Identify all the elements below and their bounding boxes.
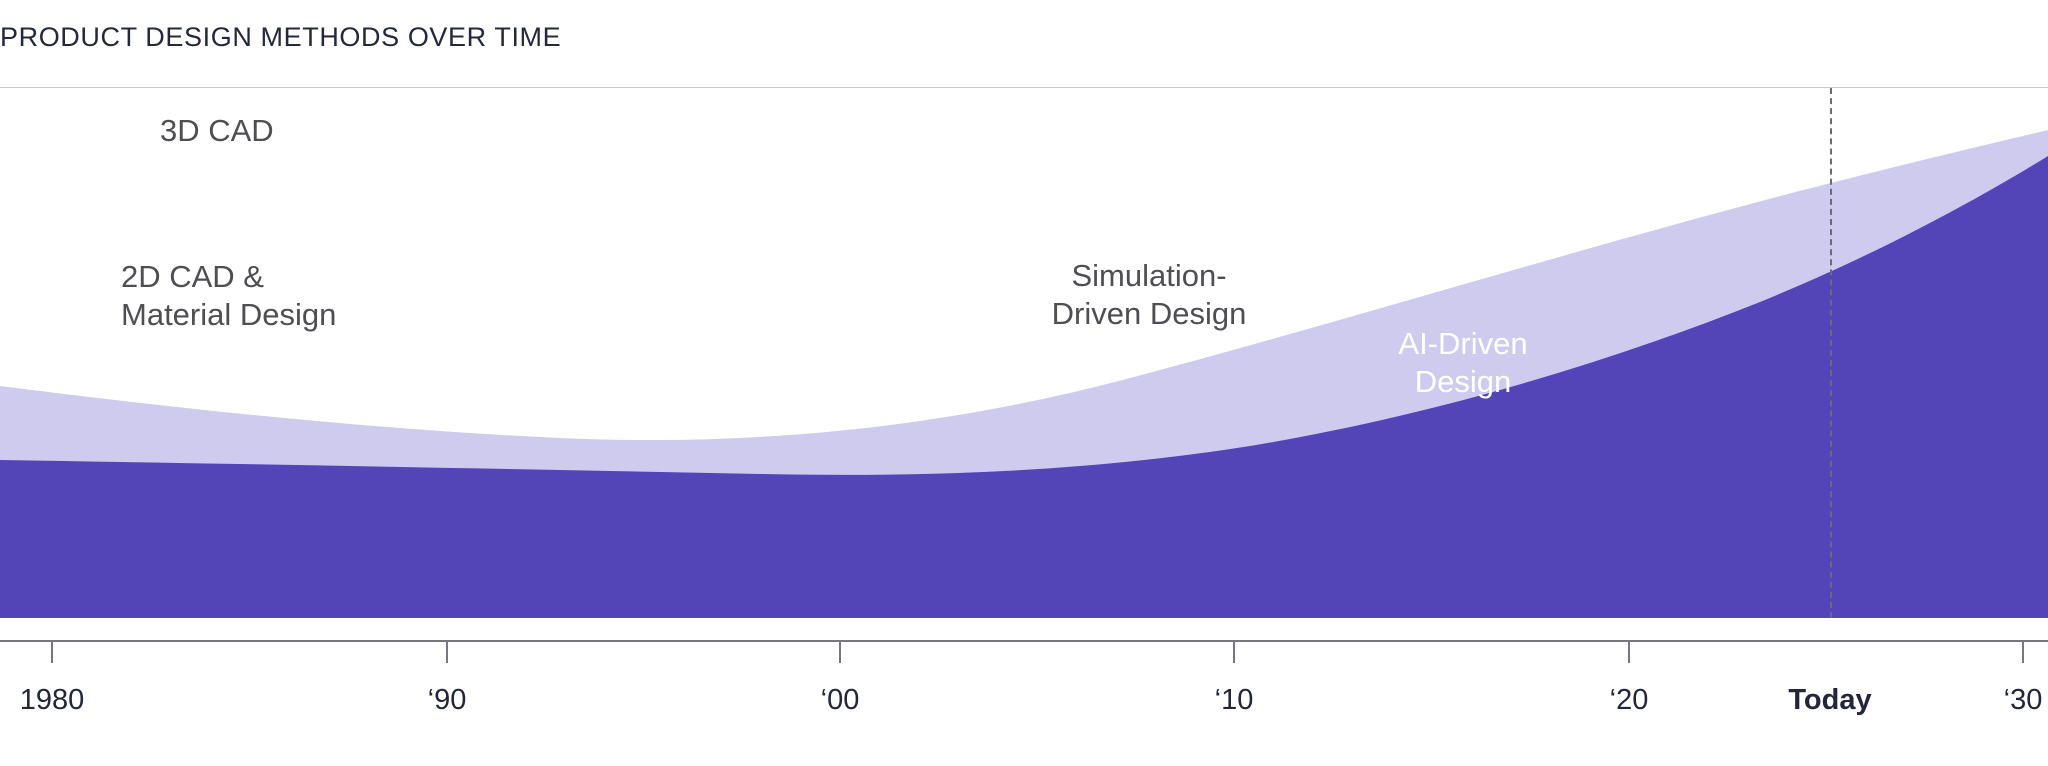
x-axis-label-20: ‘20 (1610, 683, 1649, 717)
x-axis-tick-00 (839, 642, 841, 663)
x-axis-tick-1980 (51, 642, 53, 663)
x-axis-label-today: Today (1788, 683, 1871, 717)
area-chart-plot (0, 88, 2048, 640)
x-axis-tick-20 (1628, 642, 1630, 663)
area-label-ai-driven-design: AI-Driven Design (1388, 325, 1538, 401)
chart-root: PRODUCT DESIGN METHODS OVER TIME 3D CAD … (0, 0, 2048, 766)
x-axis-line (0, 640, 2048, 642)
today-marker-line (1830, 88, 1832, 618)
x-axis-tick-30 (2022, 642, 2024, 663)
x-axis-label-90: ‘90 (428, 683, 467, 717)
x-axis-label-30: ‘30 (2004, 683, 2043, 717)
x-axis-label-10: ‘10 (1215, 683, 1254, 717)
area-label-3d-cad: 3D CAD (160, 112, 274, 150)
x-axis-tick-90 (446, 642, 448, 663)
x-axis-tick-10 (1233, 642, 1235, 663)
area-label-simulation-driven-design: Simulation- Driven Design (1038, 257, 1260, 333)
area-label-2d-cad-material-design: 2D CAD & Material Design (121, 258, 336, 334)
x-axis-label-00: ‘00 (821, 683, 860, 717)
x-axis-label-1980: 1980 (20, 683, 85, 717)
area-chart-svg (0, 88, 2048, 640)
page-title: PRODUCT DESIGN METHODS OVER TIME (0, 20, 561, 54)
